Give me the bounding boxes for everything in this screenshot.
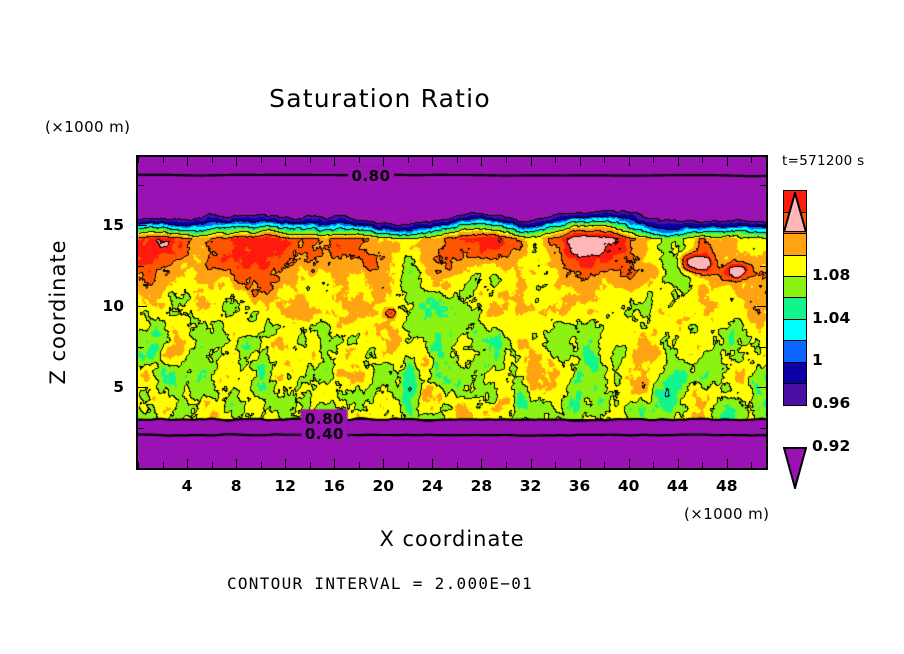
y-axis-units-label: (×1000 m) (45, 118, 130, 136)
y-tick-right (760, 185, 766, 186)
y-tick-left (138, 306, 147, 307)
x-tick-bottom (334, 459, 335, 468)
x-tick-bottom (383, 459, 384, 468)
colorbar-tick-label: 1 (812, 351, 823, 369)
y-tick-label: 5 (90, 378, 124, 396)
page-title: Saturation Ratio (0, 84, 760, 113)
x-tick-top (187, 157, 188, 166)
x-tick-bottom (285, 459, 286, 468)
x-tick-top (531, 157, 532, 166)
x-tick-bottom (187, 459, 188, 468)
x-tick-label: 48 (716, 477, 738, 495)
x-tick-bottom (212, 462, 213, 468)
x-tick-top (310, 157, 311, 163)
colorbar-swatch (783, 297, 807, 320)
x-tick-bottom (751, 462, 752, 468)
y-tick-left (138, 347, 144, 348)
x-tick-top (432, 157, 433, 166)
x-tick-label: 32 (520, 477, 542, 495)
colorbar-cap-top-outline (783, 192, 807, 232)
y-tick-right (757, 306, 766, 307)
x-tick-bottom (481, 459, 482, 468)
x-tick-label: 8 (231, 477, 242, 495)
x-tick-label: 16 (323, 477, 345, 495)
x-axis-title: X coordinate (136, 527, 768, 551)
colorbar-swatch (783, 362, 807, 385)
x-tick-top (506, 157, 507, 163)
x-tick-top (236, 157, 237, 166)
x-tick-top (604, 157, 605, 163)
x-tick-top (212, 157, 213, 163)
x-tick-top (702, 157, 703, 163)
y-tick-left (138, 428, 144, 429)
colorbar-swatch (783, 276, 807, 299)
x-tick-bottom (408, 462, 409, 468)
x-tick-bottom (727, 459, 728, 468)
x-tick-top (334, 157, 335, 166)
x-tick-label: 12 (274, 477, 296, 495)
x-tick-label: 20 (373, 477, 395, 495)
x-tick-label: 24 (422, 477, 444, 495)
x-tick-label: 40 (618, 477, 640, 495)
colorbar-swatch (783, 255, 807, 278)
x-tick-bottom (163, 462, 164, 468)
y-tick-left (138, 185, 144, 186)
x-tick-top (163, 157, 164, 163)
x-tick-bottom (653, 462, 654, 468)
y-tick-label: 15 (90, 216, 124, 234)
x-tick-bottom (531, 459, 532, 468)
x-tick-top (408, 157, 409, 163)
x-tick-top (261, 157, 262, 163)
x-tick-top (751, 157, 752, 163)
x-tick-top (580, 157, 581, 166)
y-tick-left (138, 387, 147, 388)
y-tick-right (757, 387, 766, 388)
x-tick-top (481, 157, 482, 166)
x-tick-bottom (678, 459, 679, 468)
x-tick-bottom (310, 462, 311, 468)
y-tick-right (760, 428, 766, 429)
y-tick-right (757, 225, 766, 226)
y-tick-left (138, 468, 144, 469)
colorbar-swatch (783, 383, 807, 406)
x-tick-top (653, 157, 654, 163)
y-tick-left (138, 266, 144, 267)
x-tick-bottom (432, 459, 433, 468)
x-tick-top (457, 157, 458, 163)
colorbar-tick-label: 0.92 (812, 437, 850, 455)
x-tick-top (727, 157, 728, 166)
y-tick-label: 10 (90, 297, 124, 315)
y-axis-title: Z coordinate (46, 192, 70, 432)
x-tick-top (138, 157, 139, 163)
y-tick-right (760, 347, 766, 348)
x-tick-bottom (629, 459, 630, 468)
x-tick-top (359, 157, 360, 163)
x-tick-top (285, 157, 286, 166)
colorbar-tick-label: 1.04 (812, 309, 850, 327)
colorbar-tick-label: 1.08 (812, 266, 850, 284)
x-axis-units-label: (×1000 m) (684, 505, 769, 523)
y-tick-right (760, 468, 766, 469)
x-tick-bottom (604, 462, 605, 468)
x-tick-bottom (506, 462, 507, 468)
colorbar-tick-label: 0.96 (812, 394, 850, 412)
colorbar-cap-bottom-outline (783, 447, 807, 489)
x-tick-top (383, 157, 384, 166)
x-tick-bottom (261, 462, 262, 468)
x-tick-top (555, 157, 556, 163)
x-tick-bottom (236, 459, 237, 468)
x-tick-bottom (580, 459, 581, 468)
x-tick-bottom (702, 462, 703, 468)
x-tick-top (678, 157, 679, 166)
contour-plot-area (136, 155, 768, 470)
x-tick-label: 44 (667, 477, 689, 495)
contour-line-label: 0.80 (352, 167, 391, 185)
contour-line-label: 0.40 (305, 425, 344, 443)
y-tick-left (138, 225, 147, 226)
time-stamp-label: t=571200 s (782, 153, 864, 169)
x-tick-top (629, 157, 630, 166)
x-tick-bottom (359, 462, 360, 468)
colorbar-swatch (783, 319, 807, 342)
contour-interval-note: CONTOUR INTERVAL = 2.000E−01 (0, 574, 760, 593)
x-tick-bottom (457, 462, 458, 468)
y-tick-right (760, 266, 766, 267)
colorbar-swatch (783, 340, 807, 363)
colorbar-swatch (783, 233, 807, 256)
x-tick-bottom (555, 462, 556, 468)
x-tick-label: 4 (182, 477, 193, 495)
x-tick-label: 36 (569, 477, 591, 495)
saturation-ratio-field (138, 157, 766, 468)
x-tick-label: 28 (471, 477, 493, 495)
